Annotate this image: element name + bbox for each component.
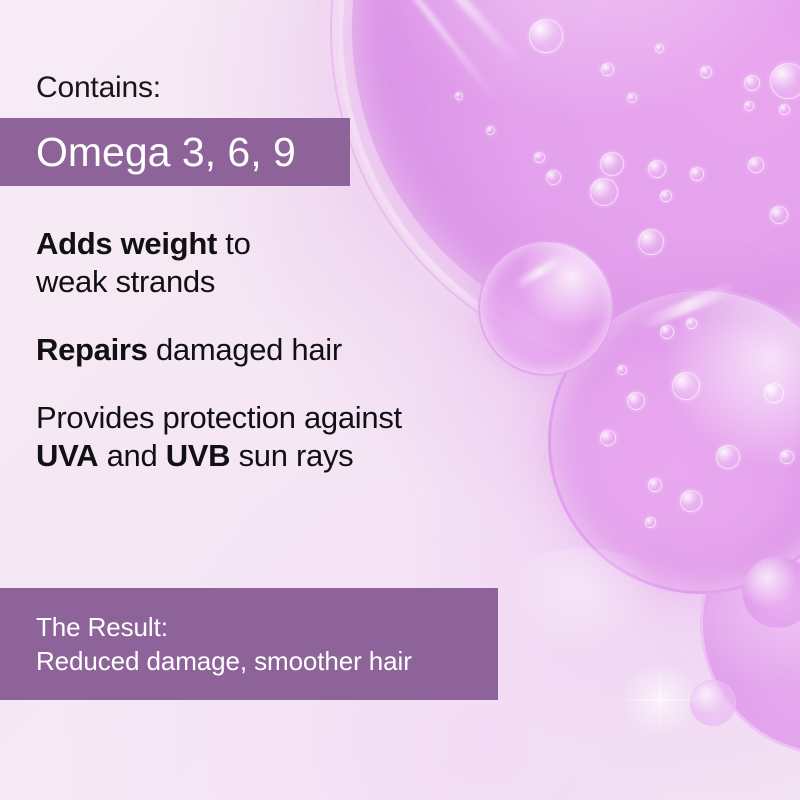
benefit-3-line1: Provides protection against <box>36 400 402 435</box>
product-benefits-poster: Contains: Omega 3, 6, 9 Adds weight to w… <box>0 0 800 800</box>
benefit-item-uv-protection: Provides protection against UVA and UVB … <box>36 399 536 475</box>
poster-content: Contains: Omega 3, 6, 9 Adds weight to w… <box>0 0 800 800</box>
omega-label: Omega 3, 6, 9 <box>36 129 296 175</box>
benefit-3-uvb: UVB <box>166 438 231 473</box>
result-title: The Result: <box>36 610 498 644</box>
omega-highlight-band: Omega 3, 6, 9 <box>0 118 350 186</box>
benefits-list: Adds weight to weak strands Repairs dama… <box>36 225 536 475</box>
benefit-item-repairs: Repairs damaged hair <box>36 331 536 369</box>
benefit-item-adds-weight: Adds weight to weak strands <box>36 225 536 301</box>
contains-label: Contains: <box>36 70 161 106</box>
benefit-2-bold: Repairs <box>36 332 148 367</box>
benefit-3-mid: and <box>98 438 165 473</box>
benefit-3-tail: sun rays <box>230 438 353 473</box>
result-band: The Result: Reduced damage, smoother hai… <box>0 588 498 700</box>
benefit-1-line2: weak strands <box>36 264 215 299</box>
benefit-3-uva: UVA <box>36 438 98 473</box>
benefit-2-rest: damaged hair <box>148 332 342 367</box>
benefit-1-rest: to <box>217 226 251 261</box>
result-description: Reduced damage, smoother hair <box>36 644 498 678</box>
benefit-1-bold: Adds weight <box>36 226 217 261</box>
